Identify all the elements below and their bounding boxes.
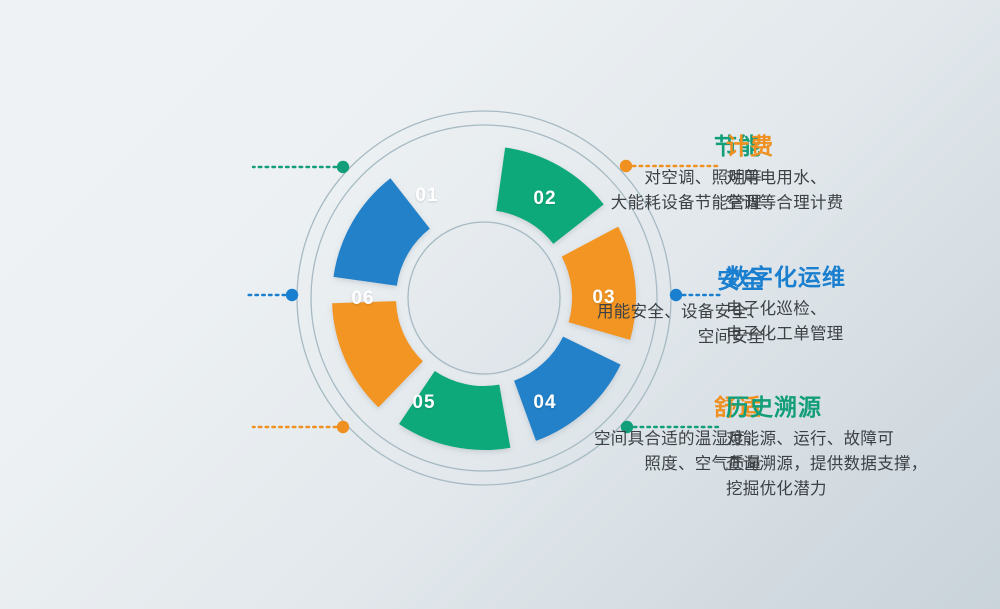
connector-dot-energy-saving[interactable]: [337, 161, 349, 173]
segment-number-04: 04: [533, 392, 556, 414]
callout-history-tracing[interactable]: 历史溯源对能源、运行、故障可查询溯源，提供数据支撑，挖掘优化潜力: [726, 392, 928, 502]
segment-number-02: 02: [533, 188, 556, 210]
callout-desc-line: 电子化巡检、: [726, 297, 846, 322]
callout-desc-digital-ops: 电子化巡检、电子化工单管理: [726, 297, 846, 347]
callout-desc-billing: 对用电用水、空调等合理计费: [726, 166, 844, 216]
callout-desc-line: 对能源、运行、故障可: [726, 427, 928, 452]
connector-dot-safety[interactable]: [286, 289, 298, 301]
callout-billing[interactable]: 计费对用电用水、空调等合理计费: [726, 131, 844, 216]
callout-desc-line: 空调等合理计费: [726, 191, 844, 216]
callout-title-digital-ops: 数字化运维: [726, 262, 846, 292]
callout-desc-line: 电子化工单管理: [726, 322, 846, 347]
inner-hub-fill: [406, 220, 562, 376]
infographic-canvas: 010203040506 节能对空调、照明等大能耗设备节能管理计费对用电用水、空…: [0, 0, 1000, 609]
segment-number-06: 06: [351, 288, 374, 310]
callout-title-history-tracing: 历史溯源: [726, 392, 928, 422]
callout-desc-history-tracing: 对能源、运行、故障可查询溯源，提供数据支撑，挖掘优化潜力: [726, 427, 928, 502]
callout-desc-line: 挖掘优化潜力: [726, 477, 928, 502]
callout-digital-ops[interactable]: 数字化运维电子化巡检、电子化工单管理: [726, 262, 846, 347]
callout-desc-line: 对用电用水、: [726, 166, 844, 191]
callout-title-billing: 计费: [726, 131, 844, 161]
connector-dot-comfort[interactable]: [337, 421, 349, 433]
segment-number-01: 01: [415, 185, 438, 207]
donut-diagram: [0, 0, 1000, 609]
callout-desc-line: 查询溯源，提供数据支撑，: [726, 452, 928, 477]
segment-number-05: 05: [412, 392, 435, 414]
